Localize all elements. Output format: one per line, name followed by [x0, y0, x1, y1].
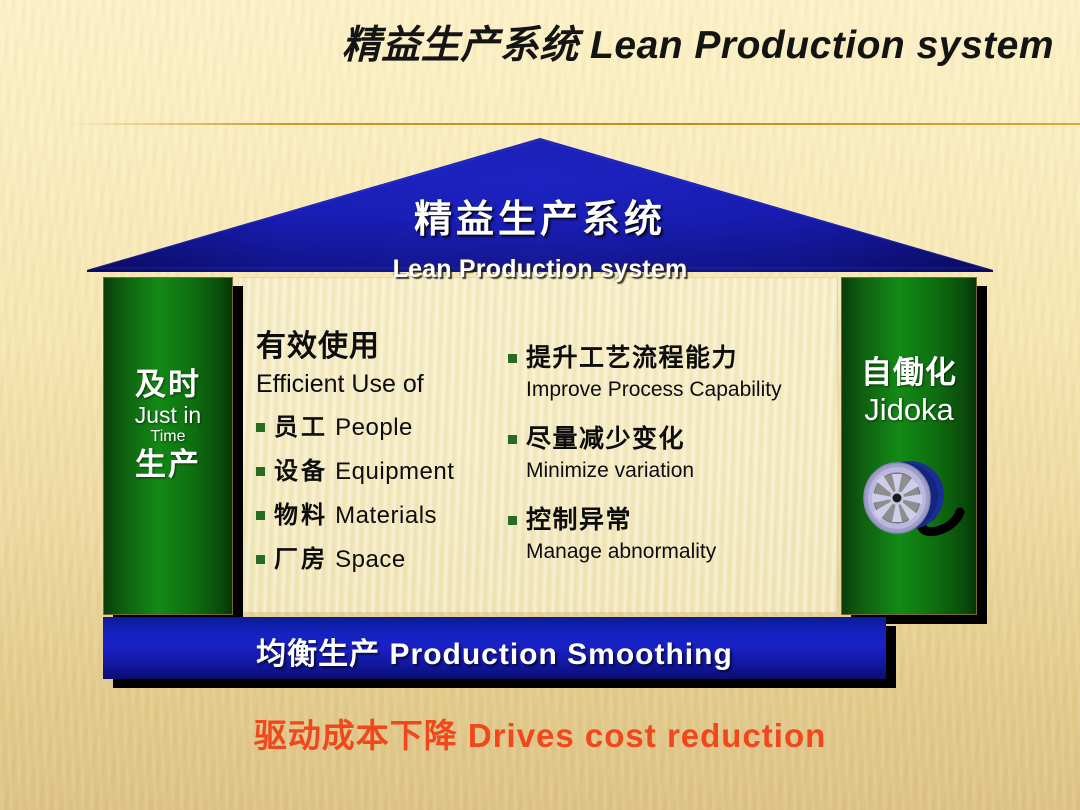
bullet-text: 员工 People — [274, 407, 413, 442]
process-improvement-column: 提升工艺流程能力 Improve Process Capability 尽量减少… — [508, 338, 820, 564]
pillar-left-line-en-1: Just in — [104, 403, 232, 429]
bullet-text-cn: 员工 — [274, 414, 328, 441]
house-foundation: 均衡生产 Production Smoothing — [103, 617, 886, 679]
pillar-right-line-en: Jidoka — [842, 393, 976, 428]
pillar-just-in-time: 及时 Just in Time 生产 — [103, 277, 233, 615]
bullet-text-cn: 物料 — [274, 502, 328, 529]
bullet-square-icon — [256, 555, 265, 564]
bullet-text: 设备 Equipment — [274, 451, 454, 486]
list-item: 设备 Equipment — [256, 451, 496, 486]
efficient-use-column: 有效使用 Efficient Use of 员工 People 设备 Equip… — [256, 330, 496, 574]
page-title: 精益生产系统 Lean Production system — [0, 14, 1054, 70]
bullet-text-en: Space — [335, 546, 406, 573]
bullet-text-en: Equipment — [335, 458, 454, 485]
bullet-square-icon — [508, 354, 517, 363]
efficient-use-heading-cn: 有效使用 — [256, 330, 496, 364]
pillar-right-text-block: 自働化 Jidoka — [842, 356, 976, 427]
bullet-text-cn: 设备 — [274, 458, 328, 485]
bullet-square-icon — [508, 516, 517, 525]
bullet-text-cn: 厂房 — [274, 546, 328, 573]
list-item: 厂房 Space — [256, 539, 496, 574]
pillar-right-line-cn: 自働化 — [842, 356, 976, 391]
title-divider-rule — [68, 123, 1080, 125]
slide-canvas: 精益生产系统 Lean Production system — [0, 0, 1080, 810]
bullet-text-en: People — [335, 414, 413, 441]
list-item: 提升工艺流程能力 Improve Process Capability — [508, 338, 820, 402]
list-item: 控制异常 Manage abnormality — [508, 500, 820, 564]
bullet-square-icon — [256, 467, 265, 476]
pillar-left-line-cn-1: 及时 — [104, 368, 232, 403]
list-item-cn: 尽量减少变化 — [526, 419, 685, 455]
list-item-heading: 尽量减少变化 — [508, 419, 820, 455]
pillar-left-line-en-2: Time — [104, 428, 232, 446]
bullet-square-icon — [256, 423, 265, 432]
lean-house-diagram: 精益生产系统 Lean Production system 及时 Just in… — [0, 0, 1080, 810]
bullet-square-icon — [256, 511, 265, 520]
pillar-jidoka: 自働化 Jidoka — [841, 277, 977, 615]
house-roof — [87, 138, 993, 272]
pillar-left-line-cn-2: 生产 — [104, 448, 232, 483]
bullet-text: 物料 Materials — [274, 495, 437, 530]
efficient-use-heading-en: Efficient Use of — [256, 370, 496, 399]
bullet-text: 厂房 Space — [274, 539, 406, 574]
foundation-label: 均衡生产 Production Smoothing — [103, 629, 886, 673]
list-item: 物料 Materials — [256, 495, 496, 530]
list-item: 尽量减少变化 Minimize variation — [508, 419, 820, 483]
bullet-square-icon — [508, 435, 517, 444]
list-item-en: Manage abnormality — [526, 540, 820, 564]
list-item-cn: 提升工艺流程能力 — [526, 338, 738, 374]
list-item-cn: 控制异常 — [526, 500, 632, 536]
pillar-left-text-block: 及时 Just in Time 生产 — [104, 368, 232, 483]
list-item-en: Minimize variation — [526, 459, 820, 483]
film-reel-icon — [854, 450, 974, 546]
list-item: 员工 People — [256, 407, 496, 442]
list-item-en: Improve Process Capability — [526, 378, 820, 402]
bottom-caption: 驱动成本下降 Drives cost reduction — [0, 709, 1080, 757]
list-item-heading: 提升工艺流程能力 — [508, 338, 820, 374]
list-item-heading: 控制异常 — [508, 500, 820, 536]
bullet-text-en: Materials — [335, 502, 437, 529]
